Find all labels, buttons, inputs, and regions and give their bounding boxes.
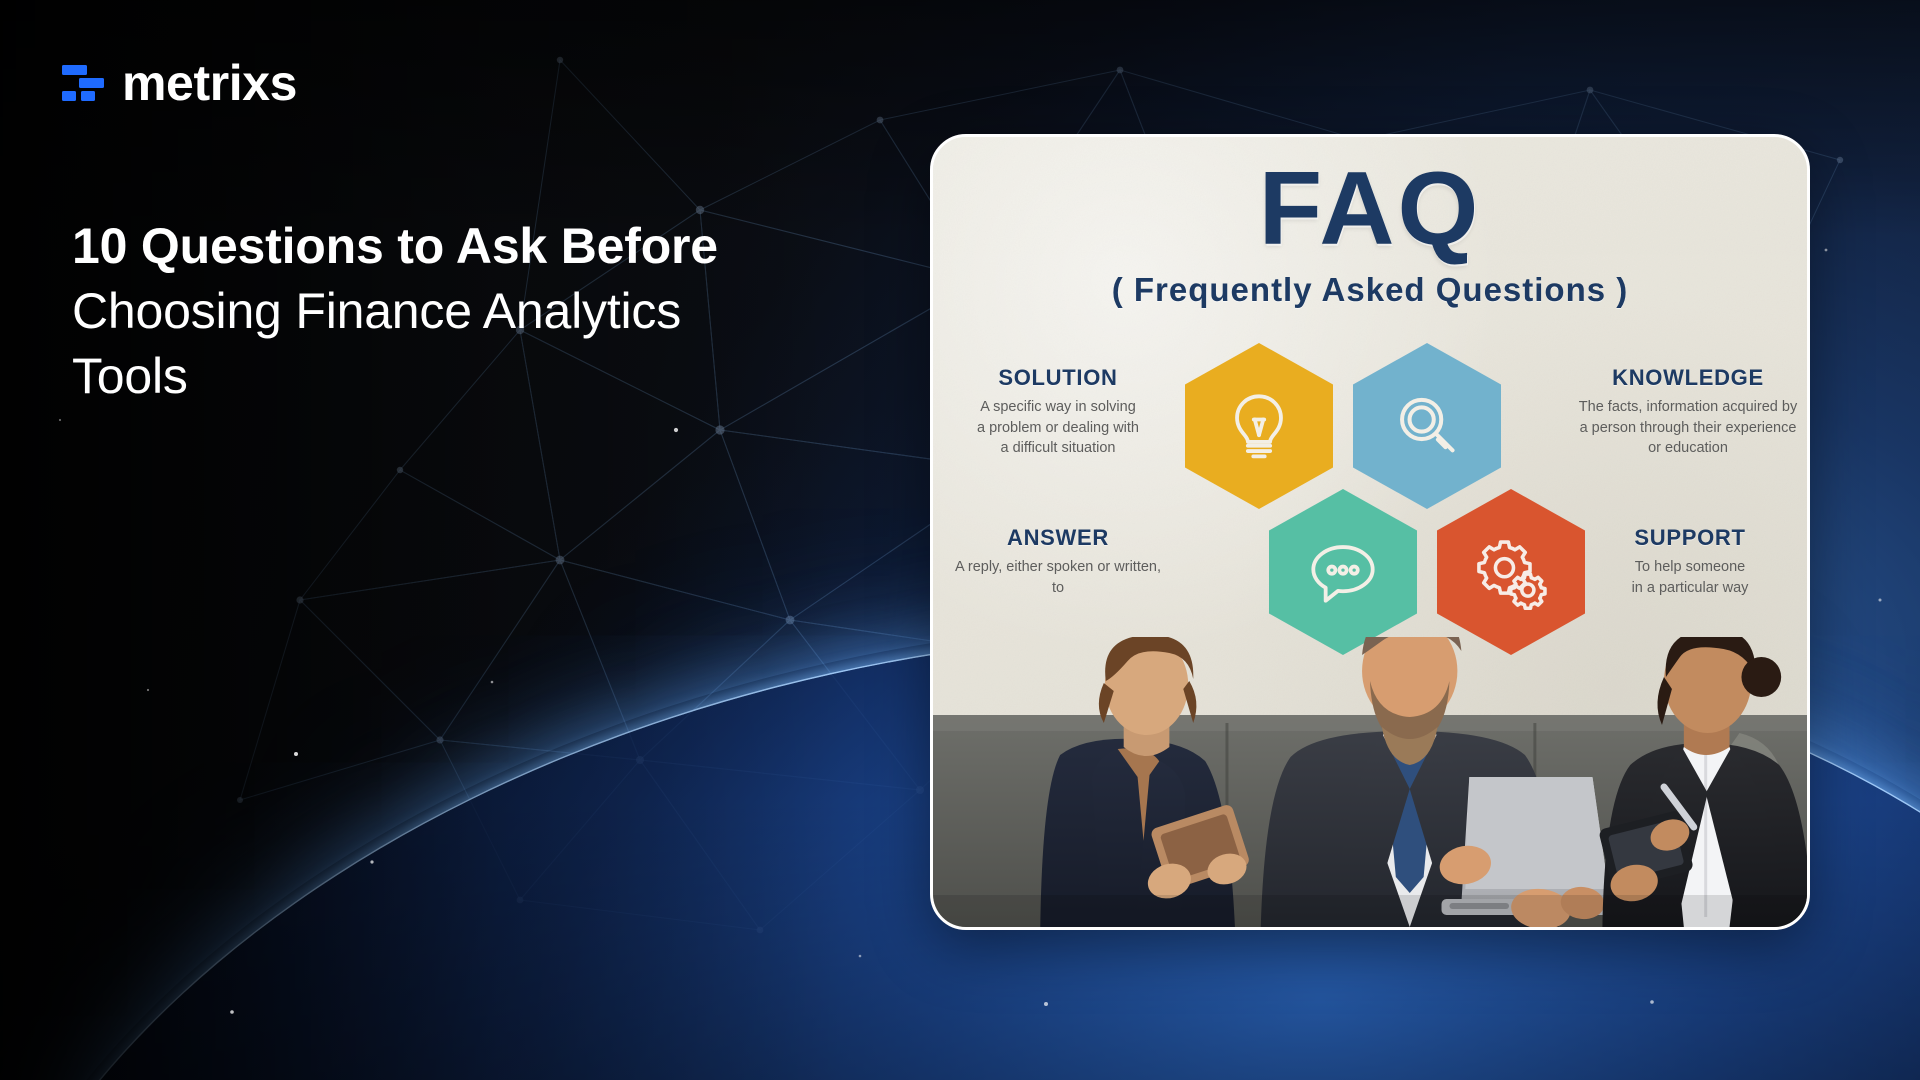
poster-canvas: metrixs 10 Questions to Ask Before Choos… xyxy=(0,0,1920,1080)
page-title: 10 Questions to Ask Before Choosing Fina… xyxy=(72,214,832,409)
person-center xyxy=(1261,637,1626,927)
brand-name: metrixs xyxy=(122,58,297,108)
label-title-solution: SOLUTION xyxy=(945,365,1171,390)
label-description-knowledge: The facts, information acquired by a per… xyxy=(1569,397,1807,459)
label-title-support: SUPPORT xyxy=(1577,525,1803,550)
brand-logo[interactable]: metrixs xyxy=(62,58,297,108)
headline-line-3: Tools xyxy=(72,344,832,409)
hexagon-knowledge[interactable] xyxy=(1353,343,1501,509)
label-block-knowledge: KNOWLEDGE The facts, information acquire… xyxy=(1569,365,1807,459)
lightbulb-icon xyxy=(1221,388,1297,464)
label-description-solution: A specific way in solving a problem or d… xyxy=(945,397,1171,459)
speech-bubble-icon xyxy=(1305,534,1381,610)
faq-subtitle: ( Frequently Asked Questions ) xyxy=(933,273,1807,306)
label-block-support: SUPPORT To help someone in a particular … xyxy=(1577,525,1803,598)
headline-line-2: Choosing Finance Analytics xyxy=(72,279,832,344)
label-description-support: To help someone in a particular way xyxy=(1577,557,1803,598)
hexagon-support[interactable] xyxy=(1437,489,1585,655)
hexagon-solution[interactable] xyxy=(1185,343,1333,509)
label-title-knowledge: KNOWLEDGE xyxy=(1569,365,1807,390)
hexagon-answer[interactable] xyxy=(1269,489,1417,655)
label-title-answer: ANSWER xyxy=(939,525,1177,550)
headline-line-1: 10 Questions to Ask Before xyxy=(72,214,832,279)
team-photo xyxy=(933,637,1807,927)
label-description-answer: A reply, either spoken or written, to xyxy=(939,557,1177,598)
gears-icon xyxy=(1473,534,1549,610)
label-block-answer: ANSWER A reply, either spoken or written… xyxy=(939,525,1177,598)
faq-title: FAQ xyxy=(933,157,1807,261)
faq-infographic-card: FAQ ( Frequently Asked Questions ) xyxy=(930,134,1810,930)
person-right xyxy=(1598,637,1807,927)
magnifier-icon xyxy=(1389,388,1465,464)
label-block-solution: SOLUTION A specific way in solving a pro… xyxy=(945,365,1171,459)
stacked-bars-icon xyxy=(62,61,106,105)
